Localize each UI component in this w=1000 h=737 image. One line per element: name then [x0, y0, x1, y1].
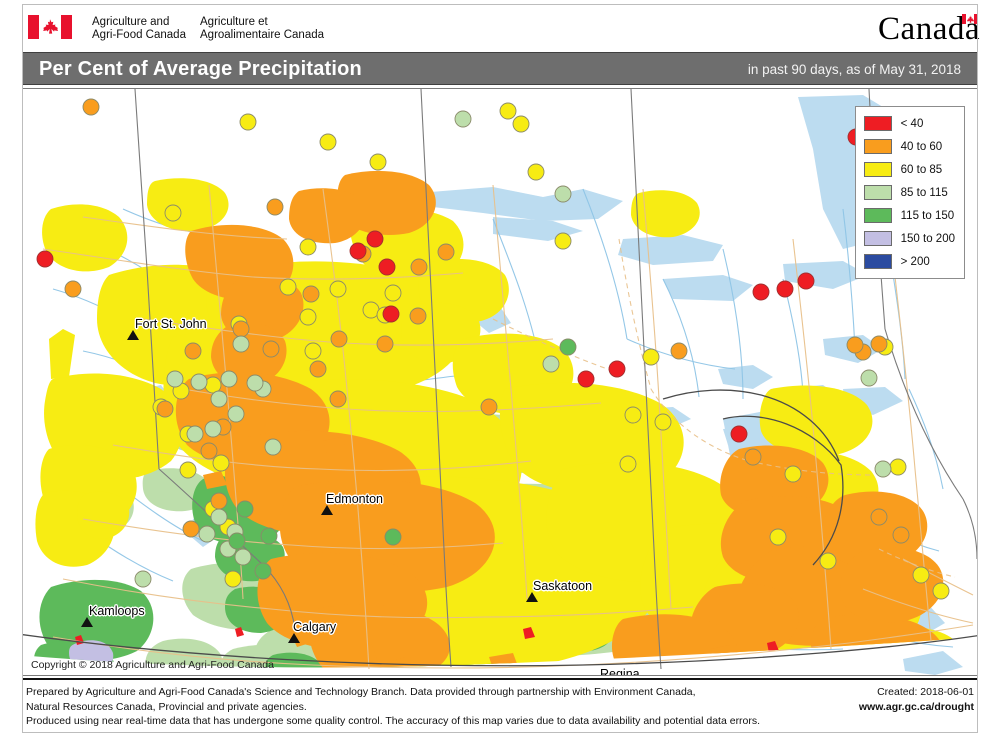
legend-swatch-115-150 — [864, 208, 892, 223]
legend-swatch-150-200 — [864, 231, 892, 246]
footer-url[interactable]: www.agr.gc.ca/drought — [859, 700, 974, 715]
department-name-fr: Agriculture et Agroalimentaire Canada — [200, 16, 324, 42]
legend-label-115-150: 115 to 150 — [901, 210, 955, 222]
department-name-en: Agriculture and Agri-Food Canada — [92, 16, 186, 42]
legend-swatch-40-60 — [864, 139, 892, 154]
map-legend: < 40 40 to 60 60 to 85 85 to 115 115 to … — [855, 106, 965, 279]
legend-item[interactable]: < 40 — [864, 114, 955, 133]
city-label-winnipeg: Winnipeg — [851, 675, 903, 676]
legend-label-150-200: 150 to 200 — [901, 233, 955, 245]
canada-flag-icon — [28, 15, 72, 39]
legend-item[interactable]: 115 to 150 — [864, 206, 955, 225]
legend-item[interactable]: 60 to 85 — [864, 160, 955, 179]
title-bar: Per Cent of Average Precipitation in pas… — [22, 52, 978, 85]
legend-item[interactable]: 85 to 115 — [864, 183, 955, 202]
legend-item[interactable]: 150 to 200 — [864, 229, 955, 248]
footer-meta: Created: 2018-06-01 www.agr.gc.ca/drough… — [859, 685, 974, 715]
legend-swatch-85-115 — [864, 185, 892, 200]
footer-disclaimer: Prepared by Agriculture and Agri-Food Ca… — [26, 685, 760, 729]
page-footer: Prepared by Agriculture and Agri-Food Ca… — [22, 678, 978, 730]
legend-swatch-60-85 — [864, 162, 892, 177]
legend-label-gt-200: > 200 — [901, 256, 930, 268]
map-canvas[interactable]: Fort St. John Edmonton Kamloops Calgary … — [22, 88, 978, 676]
legend-swatch-gt-200 — [864, 254, 892, 269]
page-title: Per Cent of Average Precipitation — [39, 58, 362, 81]
page-subtitle: in past 90 days, as of May 31, 2018 — [748, 62, 961, 77]
legend-swatch-lt-40 — [864, 116, 892, 131]
canada-wordmark: Canada — [878, 10, 978, 44]
legend-item[interactable]: > 200 — [864, 252, 955, 271]
legend-label-40-60: 40 to 60 — [901, 141, 943, 153]
legend-label-lt-40: < 40 — [901, 118, 924, 130]
wordmark-flag-icon — [962, 14, 978, 24]
page-header: Agriculture and Agri-Food Canada Agricul… — [0, 0, 1000, 52]
legend-label-60-85: 60 to 85 — [901, 164, 943, 176]
footer-created: Created: 2018-06-01 — [859, 685, 974, 700]
precipitation-map-graphic — [23, 89, 977, 675]
legend-label-85-115: 85 to 115 — [901, 187, 948, 199]
legend-item[interactable]: 40 to 60 — [864, 137, 955, 156]
map-page: Agriculture and Agri-Food Canada Agricul… — [0, 0, 1000, 737]
map-copyright: Copyright © 2018 Agriculture and Agri-Fo… — [31, 659, 274, 671]
